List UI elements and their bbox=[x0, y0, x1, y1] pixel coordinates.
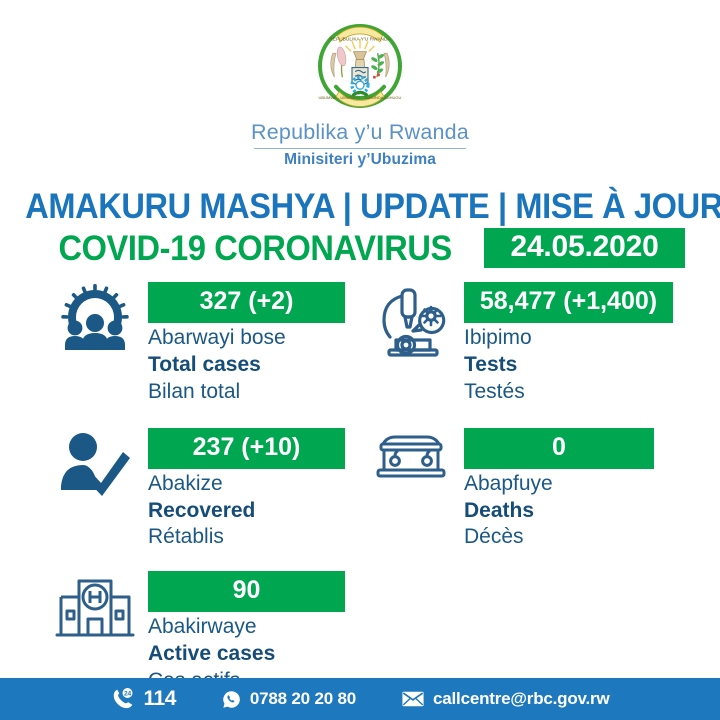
whatsapp-contact[interactable]: 0788 20 20 80 bbox=[222, 689, 356, 709]
microscope-icon bbox=[368, 282, 454, 360]
recovered-value: 237 (+10) bbox=[148, 428, 345, 469]
total-cases-value: 327 (+2) bbox=[148, 282, 345, 323]
hotline-contact[interactable]: 24 114 bbox=[111, 687, 176, 711]
virus-people-icon bbox=[52, 282, 138, 356]
active-cases-label-en: Active cases bbox=[148, 641, 345, 668]
contact-footer: 24 114 0788 20 20 80 callcentre@rbc.gov.… bbox=[0, 678, 720, 720]
report-date-badge: 24.05.2020 bbox=[484, 228, 684, 268]
total-cases-label-en: Total cases bbox=[148, 352, 345, 379]
coffin-icon bbox=[368, 428, 454, 484]
update-headline: AMAKURU MASHYA | UPDATE | MISE À JOUR bbox=[25, 187, 695, 226]
email-contact[interactable]: callcentre@rbc.gov.rw bbox=[402, 689, 609, 709]
country-name: Republika y’u Rwanda bbox=[251, 121, 469, 145]
stat-deaths: 0 Abapfuye Deaths Décès bbox=[368, 428, 654, 552]
tests-label-en: Tests bbox=[464, 352, 673, 379]
stat-active-cases: 90 Abakirwaye Active cases Cas actifs bbox=[52, 571, 345, 695]
stat-row: 237 (+10) Abakize Recovered Rétablis bbox=[0, 428, 720, 552]
active-cases-label-rw: Abakirwaye bbox=[148, 614, 345, 641]
email-address: callcentre@rbc.gov.rw bbox=[433, 689, 609, 709]
statistics-grid: 327 (+2) Abarwayi bose Total cases Bilan… bbox=[0, 282, 720, 695]
whatsapp-number: 0788 20 20 80 bbox=[250, 689, 356, 709]
envelope-icon bbox=[402, 691, 424, 707]
title-block: AMAKURU MASHYA | UPDATE | MISE À JOUR CO… bbox=[0, 187, 720, 268]
ministry-name: Minisiteri y’Ubuzima bbox=[284, 151, 436, 169]
covid-headline: COVID-19 CORONAVIRUS bbox=[59, 229, 469, 268]
deaths-label-fr: Décès bbox=[464, 524, 654, 551]
whatsapp-icon bbox=[222, 690, 241, 709]
deaths-label-en: Deaths bbox=[464, 498, 654, 525]
phone-24-icon: 24 bbox=[111, 687, 135, 711]
total-cases-label-rw: Abarwayi bose bbox=[148, 325, 345, 352]
tests-value: 58,477 (+1,400) bbox=[464, 282, 673, 323]
stat-tests: 58,477 (+1,400) Ibipimo Tests Testés bbox=[368, 282, 673, 406]
deaths-value: 0 bbox=[464, 428, 654, 469]
header-divider bbox=[254, 148, 466, 150]
hotline-number: 114 bbox=[144, 687, 176, 711]
hospital-icon bbox=[52, 571, 138, 645]
tests-label-fr: Testés bbox=[464, 379, 673, 406]
recovered-label-en: Recovered bbox=[148, 498, 345, 525]
recovered-label-fr: Rétablis bbox=[148, 524, 345, 551]
stat-row: 90 Abakirwaye Active cases Cas actifs bbox=[0, 571, 720, 695]
stat-total-cases: 327 (+2) Abarwayi bose Total cases Bilan… bbox=[52, 282, 345, 406]
svg-text:UBUMWE - UMURIMO - GUKUNDA IGI: UBUMWE - UMURIMO - GUKUNDA IGIHUGU bbox=[319, 95, 402, 100]
stat-row: 327 (+2) Abarwayi bose Total cases Bilan… bbox=[0, 282, 720, 406]
person-check-icon bbox=[52, 428, 138, 498]
total-cases-label-fr: Bilan total bbox=[148, 379, 345, 406]
recovered-label-rw: Abakize bbox=[148, 471, 345, 498]
deaths-label-rw: Abapfuye bbox=[464, 471, 654, 498]
header: REPUBULIKA Y'U RWANDA bbox=[0, 0, 720, 169]
active-cases-value: 90 bbox=[148, 571, 345, 612]
rwanda-coat-of-arms-icon: REPUBULIKA Y'U RWANDA bbox=[312, 18, 408, 114]
stat-recovered: 237 (+10) Abakize Recovered Rétablis bbox=[52, 428, 345, 552]
tests-label-rw: Ibipimo bbox=[464, 325, 673, 352]
svg-text:24: 24 bbox=[124, 690, 131, 697]
infographic-page: REPUBULIKA Y'U RWANDA bbox=[0, 0, 720, 720]
